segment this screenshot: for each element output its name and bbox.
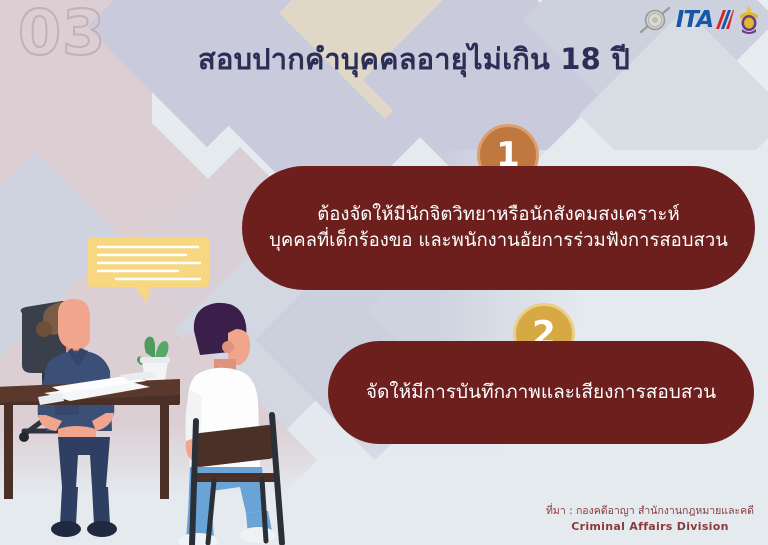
logo-strip: ITA <box>638 4 760 36</box>
police-magnifier-emblem-icon <box>638 5 672 35</box>
thai-garuda-emblem-icon <box>738 5 760 35</box>
ita-logo-slashes <box>708 7 734 33</box>
item-card-2: จัดให้มีการบันทึกภาพและเสียงการสอบสวน <box>328 341 754 444</box>
item-card-2-text: จัดให้มีการบันทึกภาพและเสียงการสอบสวน <box>366 379 716 406</box>
item-card-1: ต้องจัดให้มีนักจิตวิทยาหรือนักสังคมสงเคร… <box>242 166 755 290</box>
police-officer-figure <box>36 299 117 537</box>
item-card-1-line-2: บุคคลที่เด็กร้องขอ และพนักงานอัยการร่วมฟ… <box>269 228 728 254</box>
footer-credit: ที่มา : กองคดีอาญา สำนักงานกฎหมายและคดี … <box>546 504 754 535</box>
footer-source-en: Criminal Affairs Division <box>546 519 754 535</box>
speech-bubble-icon <box>88 237 209 303</box>
item-card-2-line-1: จัดให้มีการบันทึกภาพและเสียงการสอบสวน <box>366 379 716 406</box>
item-card-1-line-1: ต้องจัดให้มีนักจิตวิทยาหรือนักสังคมสงเคร… <box>269 202 728 228</box>
item-card-1-text: ต้องจัดให้มีนักจิตวิทยาหรือนักสังคมสงเคร… <box>269 202 728 255</box>
footer-source-th: ที่มา : กองคดีอาญา สำนักงานกฎหมายและคดี <box>546 504 754 519</box>
ita-logo: ITA <box>676 7 734 33</box>
infographic-poster: 03 สอบปากคำบุคคลอายุไม่เกิน 18 ปี ITA <box>0 0 768 545</box>
page-title: สอบปากคำบุคคลอายุไม่เกิน 18 ปี <box>0 36 768 82</box>
